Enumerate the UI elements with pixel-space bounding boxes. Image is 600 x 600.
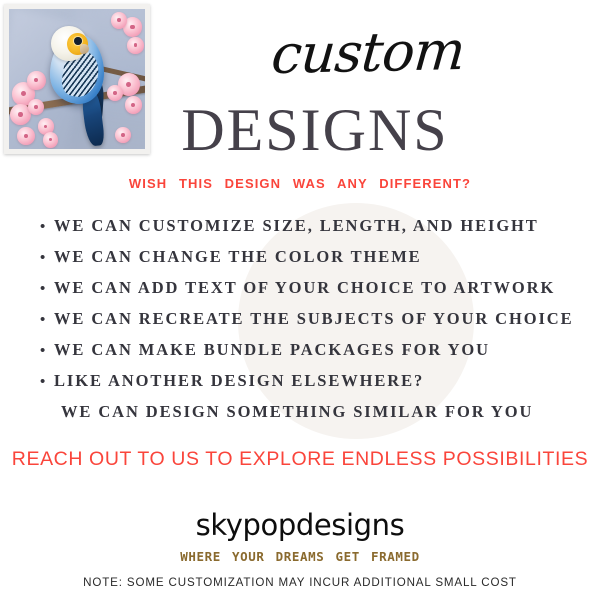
call-to-action-text: REACH OUT TO US TO EXPLORE ENDLESS POSSI… [0, 448, 600, 471]
bullet-dot-icon: • [40, 250, 54, 265]
bullet-dot-icon: • [40, 343, 54, 358]
list-item: • LIKE ANOTHER DESIGN ELSEWHERE? [40, 371, 596, 402]
list-item-label: WE CAN RECREATE THE SUBJECTS OF YOUR CHO… [54, 309, 573, 329]
list-item: • WE CAN RECREATE THE SUBJECTS OF YOUR C… [40, 309, 596, 340]
brand-tagline: WHERE YOUR DREAMS GET FRAMED [0, 549, 600, 564]
brand-name: skypopdesigns [0, 508, 600, 542]
bullet-dot-icon: • [40, 312, 54, 327]
page-title: DESIGNS [150, 100, 480, 160]
blossom-icon [43, 132, 58, 147]
list-item-label: WE CAN CHANGE THE COLOR THEME [54, 247, 422, 267]
list-item-label: WE CAN CUSTOMIZE SIZE, LENGTH, AND HEIGH… [54, 216, 539, 236]
subheading-question: WISH THIS DESIGN WAS ANY DIFFERENT? [0, 176, 600, 191]
bullet-dot-icon: • [40, 219, 54, 234]
list-item: • WE CAN MAKE BUNDLE PACKAGES FOR YOU [40, 340, 596, 371]
list-item: • WE CAN CUSTOMIZE SIZE, LENGTH, AND HEI… [40, 216, 596, 247]
capabilities-list: • WE CAN CUSTOMIZE SIZE, LENGTH, AND HEI… [40, 216, 596, 436]
blossom-icon [125, 96, 143, 114]
blossom-icon [17, 127, 35, 145]
artwork-canvas [9, 9, 145, 149]
footer-note: NOTE: SOME CUSTOMIZATION MAY INCUR ADDIT… [0, 576, 600, 589]
blossom-icon [127, 37, 143, 54]
script-heading: custom [155, 22, 580, 85]
bullet-dot-icon: • [40, 281, 54, 296]
list-item-continuation: WE CAN DESIGN SOMETHING SIMILAR FOR YOU [40, 402, 596, 436]
bullet-dot-icon: • [40, 374, 54, 389]
list-item: • WE CAN ADD TEXT OF YOUR CHOICE TO ARTW… [40, 278, 596, 309]
list-item-label: WE CAN DESIGN SOMETHING SIMILAR FOR YOU [61, 402, 533, 422]
bird-eye-icon [74, 37, 81, 45]
promo-graphic: custom DESIGNS WISH THIS DESIGN WAS ANY … [0, 0, 600, 600]
blossom-icon [27, 71, 46, 91]
list-item: • WE CAN CHANGE THE COLOR THEME [40, 247, 596, 278]
list-item-label: WE CAN ADD TEXT OF YOUR CHOICE TO ARTWOR… [54, 278, 555, 298]
list-item-label: WE CAN MAKE BUNDLE PACKAGES FOR YOU [54, 340, 490, 360]
blossom-icon [111, 12, 127, 29]
list-item-label: LIKE ANOTHER DESIGN ELSEWHERE? [54, 371, 424, 391]
artwork-thumbnail[interactable] [4, 4, 150, 154]
